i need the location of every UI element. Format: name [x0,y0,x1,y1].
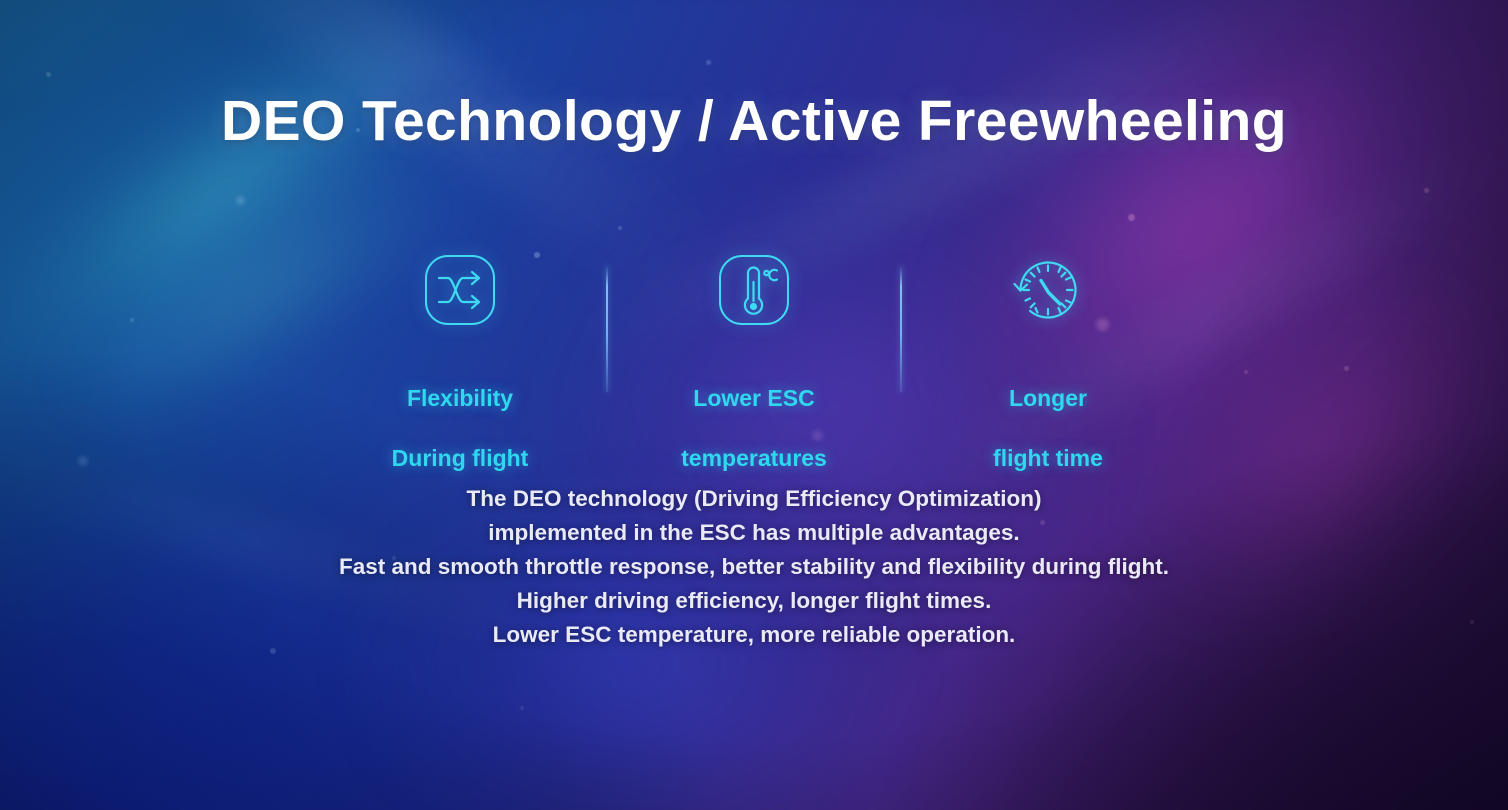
description-line: Higher driving efficiency, longer flight… [0,584,1508,618]
feature-divider [900,266,902,392]
feature-item-flight-time: Longer flight time [950,248,1146,474]
shuffle-arrows-icon [418,248,502,332]
feature-label: Longer flight time [993,354,1103,474]
feature-label: Flexibility During flight [392,354,529,474]
description-line: The DEO technology (Driving Efficiency O… [0,482,1508,516]
feature-list: Flexibility During flight [0,248,1508,474]
feature-label-line2: flight time [993,445,1103,471]
feature-label-line1: Flexibility [407,385,513,411]
description-paragraph: The DEO technology (Driving Efficiency O… [0,482,1508,652]
feature-item-temperature: Lower ESC temperatures [656,248,852,474]
promo-banner: DEO Technology / Active Freewheeling Fle… [0,0,1508,810]
feature-divider [606,266,608,392]
description-line: Lower ESC temperature, more reliable ope… [0,618,1508,652]
clock-rewind-icon [1006,248,1090,332]
thermometer-celsius-icon [712,248,796,332]
page-title: DEO Technology / Active Freewheeling [0,88,1508,154]
feature-label-line1: Longer [1009,385,1087,411]
feature-label-line2: During flight [392,445,529,471]
description-line: Fast and smooth throttle response, bette… [0,550,1508,584]
feature-label: Lower ESC temperatures [681,354,827,474]
description-line: implemented in the ESC has multiple adva… [0,516,1508,550]
feature-label-line1: Lower ESC [693,385,814,411]
feature-item-flexibility: Flexibility During flight [362,248,558,474]
feature-label-line2: temperatures [681,445,827,471]
